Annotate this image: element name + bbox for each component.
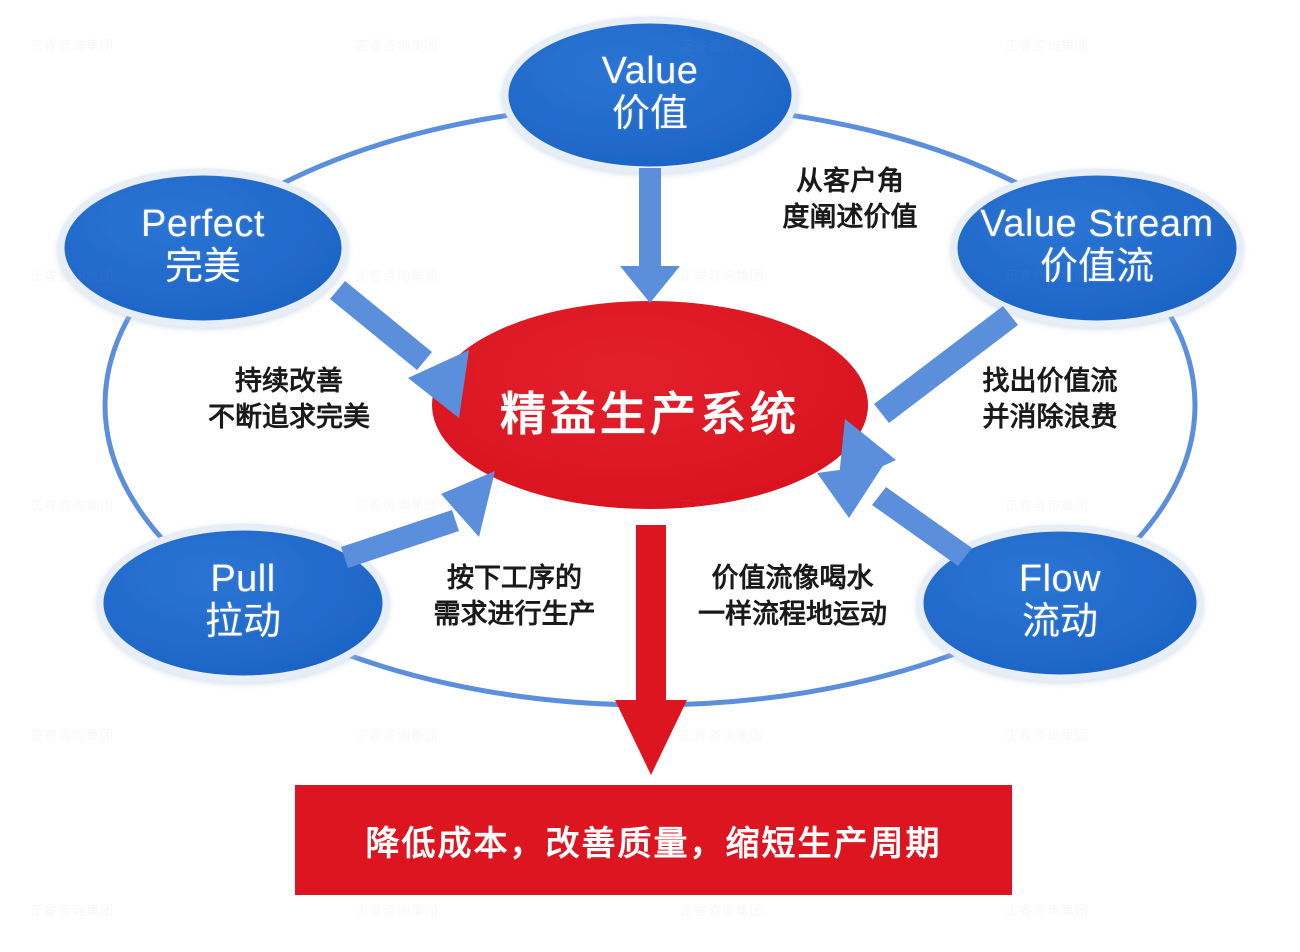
outcome-banner: 降低成本，改善质量，缩短生产周期 <box>295 785 1012 895</box>
node-value-stream[interactable] <box>954 172 1240 324</box>
arrow-center-to-banner <box>615 525 687 775</box>
outcome-banner-text: 降低成本，改善质量，缩短生产周期 <box>366 816 942 865</box>
arrow-flow-to-center <box>817 464 972 566</box>
diagram-canvas: Value 价值 Value Stream 价值流 Flow 流动 Pull 拉… <box>0 0 1300 952</box>
arrow-value-to-center <box>620 168 680 303</box>
center-node[interactable] <box>432 301 868 509</box>
node-perfect[interactable] <box>61 172 345 324</box>
arrow-pull-to-center <box>341 471 495 568</box>
arrow-perfect-to-center <box>330 281 469 418</box>
node-value[interactable] <box>505 20 795 170</box>
